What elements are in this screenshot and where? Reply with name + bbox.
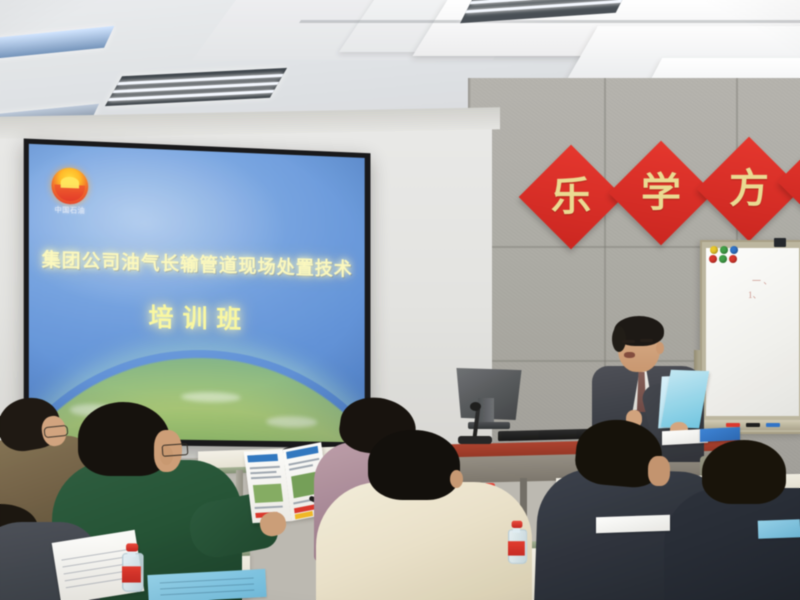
presenter-hair-side xyxy=(612,326,626,352)
brochure-band-r xyxy=(286,446,318,459)
whiteboard-surface[interactable]: 一 、 1、 xyxy=(706,248,799,416)
microphone-head xyxy=(470,402,481,411)
presenter-mouth xyxy=(624,352,635,358)
red-banner-1: 乐 xyxy=(519,145,624,250)
banner-character-1: 乐 xyxy=(534,160,608,234)
attendee-5-face xyxy=(648,456,670,486)
ceiling-shadow-line xyxy=(299,20,800,23)
red-banner-2: 学 xyxy=(609,141,714,246)
monitor-hinge xyxy=(478,398,494,424)
magnet-green[interactable] xyxy=(720,246,728,254)
brochure-photo-l xyxy=(253,484,283,503)
banner-character-3: 方 xyxy=(712,152,786,226)
attendee-6-suit xyxy=(664,488,800,600)
water-bottle-front-left[interactable] xyxy=(122,543,141,592)
ceiling-light-1 xyxy=(0,26,114,60)
attendee-6-hair xyxy=(702,440,786,504)
presenter-brow-left xyxy=(622,340,635,343)
magnet-red-1[interactable] xyxy=(709,255,717,263)
whiteboard-clip[interactable] xyxy=(774,238,786,247)
magnet-blue[interactable] xyxy=(730,246,738,254)
whiteboard-text-line-1: 一 、 xyxy=(752,274,772,287)
photo-scene: 中国石油 集团公司油气长输管道现场处置技术 培训班 乐 学 方 乐 一 、 1、 xyxy=(0,0,800,600)
whiteboard-text-line-2: 1、 xyxy=(748,288,762,301)
blue-worksheet[interactable] xyxy=(147,569,266,600)
marker-blue[interactable] xyxy=(766,423,780,427)
blue-sheet-right[interactable] xyxy=(758,519,800,538)
ceiling-light-grille-3 xyxy=(105,68,287,106)
magnet-red-2[interactable] xyxy=(729,255,737,263)
attendee-notes[interactable] xyxy=(596,515,670,534)
brochure-band-l xyxy=(247,454,278,463)
water-bottle-front-right[interactable] xyxy=(508,521,525,564)
attendee-2-glasses xyxy=(162,443,189,457)
banner-character-2: 学 xyxy=(624,156,698,230)
whiteboard: 一 、 1、 xyxy=(700,240,800,434)
presenter-ear xyxy=(656,342,664,354)
magnet-yellow[interactable] xyxy=(710,246,718,254)
attendee-4-ear xyxy=(450,470,463,488)
presenter-brow-right xyxy=(640,339,653,342)
banner-character-4: 乐 xyxy=(790,152,800,212)
attendee-4-hair xyxy=(368,430,460,500)
magnet-green-2[interactable] xyxy=(719,255,727,263)
